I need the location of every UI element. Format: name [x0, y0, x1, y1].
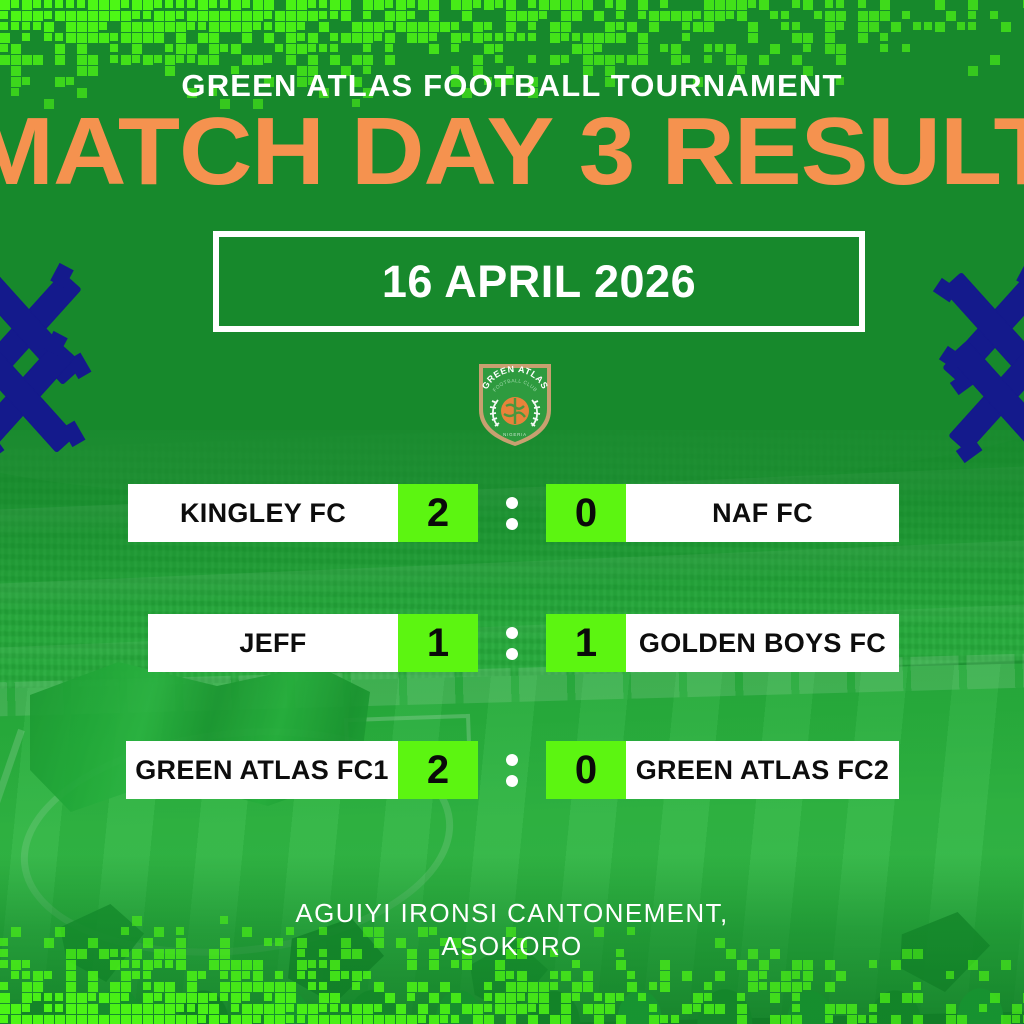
poster-content: GREEN ATLAS FOOTBALL TOURNAMENT MATCH DA… [0, 0, 1024, 1024]
match-row: JEFF 1 1 GOLDEN BOYS FC [148, 614, 899, 672]
venue-line-2: ASOKORO [0, 930, 1024, 963]
away-team-score: 1 [546, 614, 626, 672]
match-row: KINGLEY FC 2 0 NAF FC [128, 484, 899, 542]
home-team-name: KINGLEY FC [128, 484, 398, 542]
away-team-name: GOLDEN BOYS FC [626, 614, 899, 672]
venue-location: AGUIYI IRONSI CANTONEMENT, ASOKORO [0, 897, 1024, 964]
score-separator [478, 614, 546, 672]
score-separator [478, 741, 546, 799]
score-separator [478, 484, 546, 542]
home-team-score: 2 [398, 484, 478, 542]
away-team-score: 0 [546, 741, 626, 799]
away-team-name: NAF FC [626, 484, 899, 542]
home-team-score: 1 [398, 614, 478, 672]
home-team-score: 2 [398, 741, 478, 799]
home-team-name: GREEN ATLAS FC1 [126, 741, 398, 799]
away-team-score: 0 [546, 484, 626, 542]
venue-line-1: AGUIYI IRONSI CANTONEMENT, [0, 897, 1024, 930]
match-results-poster: GREEN ATLAS FOOTBALL TOURNAMENT MATCH DA… [0, 0, 1024, 1024]
home-team-name: JEFF [148, 614, 398, 672]
away-team-name: GREEN ATLAS FC2 [626, 741, 899, 799]
match-results-list: KINGLEY FC 2 0 NAF FC JEFF 1 1 GOLDEN BO… [0, 0, 1024, 1024]
match-row: GREEN ATLAS FC1 2 0 GREEN ATLAS FC2 [126, 741, 899, 799]
